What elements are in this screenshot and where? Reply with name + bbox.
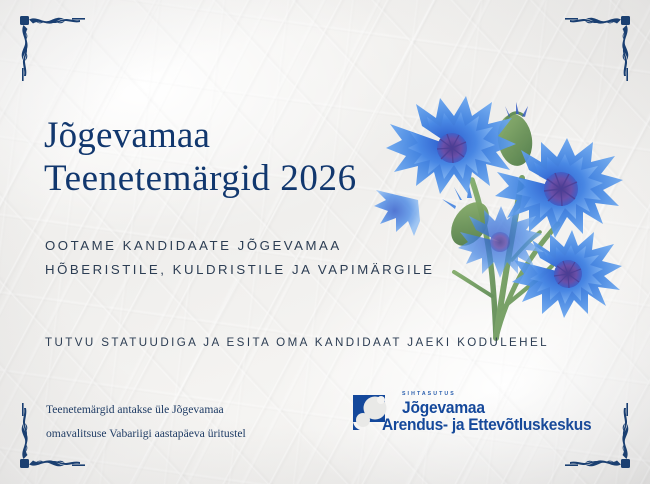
corner-ornament-top-left	[12, 8, 86, 82]
footnote-line-2: omavalitsuse Vabariigi aastapäeva üritus…	[46, 422, 246, 446]
jaek-logo[interactable]: SIHTASUTUS Jõgevamaa Arendus- ja Ettevõt…	[351, 391, 605, 435]
poster-subtitle: OOTAME KANDIDAATE JÕGEVAMAA HÕBERISTILE,…	[45, 234, 434, 282]
poster-canvas: Jõgevamaa Teenetemärgid 2026 OOTAME KAND…	[0, 0, 650, 484]
poster-footnote: Teenetemärgid antakse üle Jõgevamaa omav…	[46, 398, 246, 446]
subtitle-line-2: HÕBERISTILE, KULDRISTILE JA VAPIMÄRGILE	[45, 258, 434, 282]
title-line-1: Jõgevamaa	[44, 114, 357, 157]
title-line-2: Teenetemärgid 2026	[44, 157, 357, 200]
logo-line-1: Jõgevamaa	[402, 400, 593, 417]
subtitle-line-1: OOTAME KANDIDAATE JÕGEVAMAA	[45, 234, 434, 258]
jaek-logo-text: SIHTASUTUS Jõgevamaa Arendus- ja Ettevõt…	[402, 392, 605, 433]
logo-line-2: Arendus- ja Ettevõtluskeskus	[382, 417, 591, 434]
corner-ornament-top-right	[564, 8, 638, 82]
cornflower-head-upper-left	[386, 96, 516, 194]
poster-title: Jõgevamaa Teenetemärgid 2026	[44, 114, 357, 201]
logo-kicker: SIHTASUTUS	[402, 392, 605, 397]
cornflower-petal-spray-left	[374, 190, 420, 236]
call-to-action-text: TUTVU STATUUDIGA JA ESITA OMA KANDIDAAT …	[45, 336, 549, 349]
footnote-line-1: Teenetemärgid antakse üle Jõgevamaa	[46, 398, 246, 422]
